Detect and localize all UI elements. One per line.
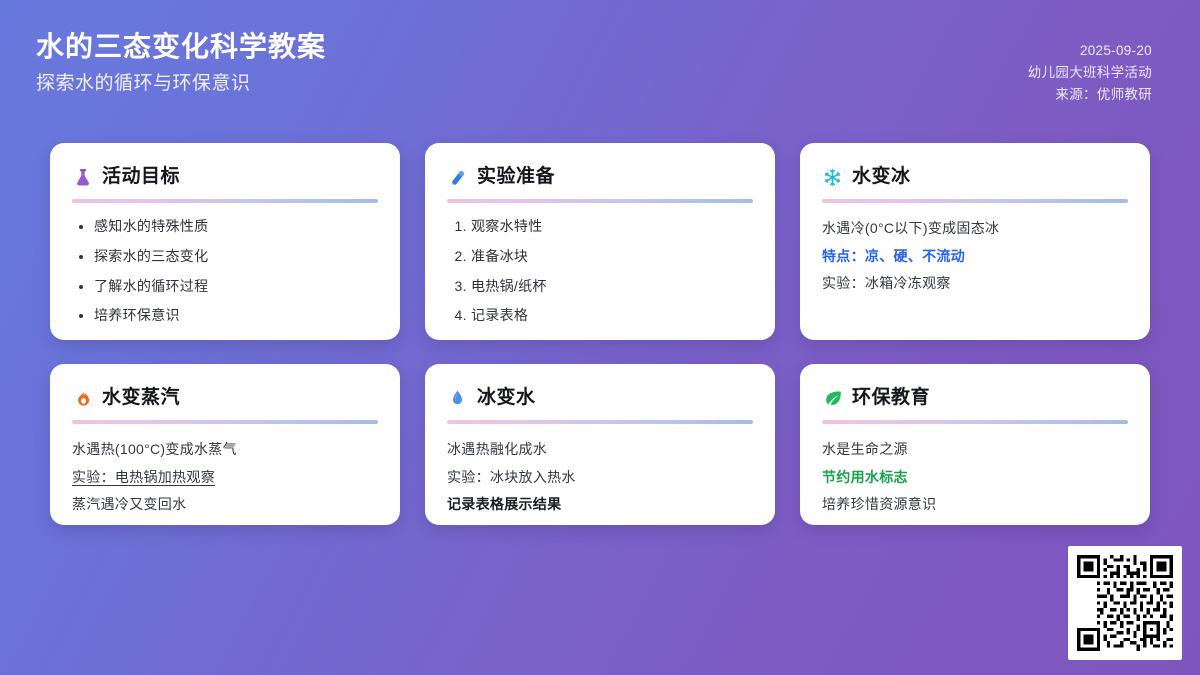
list-item: 电热锅/纸杯: [471, 278, 753, 295]
list-item: 探索水的三态变化: [94, 248, 378, 265]
list-item: 培养环保意识: [94, 307, 378, 324]
card-divider: [822, 199, 1128, 203]
card-divider: [447, 420, 753, 424]
test-tube-icon: [447, 167, 468, 188]
card-header: 冰变水: [447, 388, 753, 409]
body-line: 实验：冰块放入热水: [447, 467, 753, 489]
body-line: 冰遇热融化成水: [447, 439, 753, 461]
slide-root: 水的三态变化科学教案 探索水的循环与环保意识 2025-09-20 幼儿园大班科…: [0, 0, 1200, 675]
card-header: 水变蒸汽: [72, 388, 378, 409]
list-item: 观察水特性: [471, 218, 753, 235]
body-line: 水遇热(100°C)变成水蒸气: [72, 439, 378, 461]
card-body: 冰遇热融化成水 实验：冰块放入热水 记录表格展示结果: [447, 439, 753, 516]
card-water-to-steam[interactable]: 水变蒸汽 水遇热(100°C)变成水蒸气 实验：电热锅加热观察 蒸汽遇冷又变回水: [50, 364, 400, 525]
card-title: 环保教育: [852, 388, 930, 409]
card-title: 冰变水: [477, 388, 536, 409]
card-header: 环保教育: [822, 388, 1128, 409]
header-meta-block: 2025-09-20 幼儿园大班科学活动 来源：优师教研: [1028, 26, 1152, 106]
header-left-block: 水的三态变化科学教案 探索水的循环与环保意识: [36, 26, 326, 95]
card-header: 实验准备: [447, 167, 753, 188]
card-divider: [822, 420, 1128, 424]
flask-icon: [72, 167, 93, 188]
body-line: 水遇冷(0°C以下)变成固态冰: [822, 218, 1128, 240]
slide-header: 水的三态变化科学教案 探索水的循环与环保意识 2025-09-20 幼儿园大班科…: [0, 0, 1200, 130]
card-eco-education[interactable]: 环保教育 水是生命之源 节约用水标志 培养珍惜资源意识: [800, 364, 1150, 525]
card-activity-goals[interactable]: 活动目标 感知水的特殊性质 探索水的三态变化 了解水的循环过程 培养环保意识: [50, 143, 400, 340]
card-body: 水遇冷(0°C以下)变成固态冰 特点：凉、硬、不流动 实验：冰箱冷冻观察: [822, 218, 1128, 295]
body-line-bold: 记录表格展示结果: [447, 494, 753, 516]
fire-icon: [72, 388, 93, 409]
card-title: 水变蒸汽: [102, 388, 180, 409]
meta-source: 来源：优师教研: [1028, 84, 1152, 106]
card-ice-to-water[interactable]: 冰变水 冰遇热融化成水 实验：冰块放入热水 记录表格展示结果: [425, 364, 775, 525]
body-line: 实验：冰箱冷冻观察: [822, 273, 1128, 295]
leaf-icon: [822, 388, 843, 409]
meta-date: 2025-09-20: [1028, 40, 1152, 62]
card-grid: 活动目标 感知水的特殊性质 探索水的三态变化 了解水的循环过程 培养环保意识: [50, 143, 1150, 525]
card-divider: [72, 420, 378, 424]
card-divider: [72, 199, 378, 203]
snowflake-icon: [822, 167, 843, 188]
list-item: 了解水的循环过程: [94, 278, 378, 295]
body-line-underlined: 实验：电热锅加热观察: [72, 467, 378, 489]
card-divider: [447, 199, 753, 203]
list-item: 准备冰块: [471, 248, 753, 265]
body-line-highlight: 特点：凉、硬、不流动: [822, 246, 1128, 268]
body-line: 蒸汽遇冷又变回水: [72, 494, 378, 516]
list-item: 感知水的特殊性质: [94, 218, 378, 235]
card-title: 实验准备: [477, 167, 555, 188]
card-header: 活动目标: [72, 167, 378, 188]
body-line: 水是生命之源: [822, 439, 1128, 461]
goals-list: 感知水的特殊性质 探索水的三态变化 了解水的循环过程 培养环保意识: [72, 218, 378, 324]
page-subtitle: 探索水的循环与环保意识: [36, 72, 326, 96]
page-title: 水的三态变化科学教案: [36, 30, 326, 64]
list-item: 记录表格: [471, 307, 753, 324]
qr-code-image: [1077, 555, 1173, 651]
qr-code[interactable]: [1068, 546, 1182, 660]
water-drop-icon: [447, 388, 468, 409]
body-line-highlight: 节约用水标志: [822, 467, 1128, 489]
card-body: 水是生命之源 节约用水标志 培养珍惜资源意识: [822, 439, 1128, 516]
card-header: 水变冰: [822, 167, 1128, 188]
prep-list: 观察水特性 准备冰块 电热锅/纸杯 记录表格: [447, 218, 753, 324]
body-line: 培养珍惜资源意识: [822, 494, 1128, 516]
card-experiment-prep[interactable]: 实验准备 观察水特性 准备冰块 电热锅/纸杯 记录表格: [425, 143, 775, 340]
meta-audience: 幼儿园大班科学活动: [1028, 62, 1152, 84]
card-title: 活动目标: [102, 167, 180, 188]
card-body: 水遇热(100°C)变成水蒸气 实验：电热锅加热观察 蒸汽遇冷又变回水: [72, 439, 378, 516]
card-water-to-ice[interactable]: 水变冰 水遇冷(0°C以下)变成固态冰 特点：凉、硬、不流动 实验：冰箱冷冻观察: [800, 143, 1150, 340]
card-title: 水变冰: [852, 167, 911, 188]
